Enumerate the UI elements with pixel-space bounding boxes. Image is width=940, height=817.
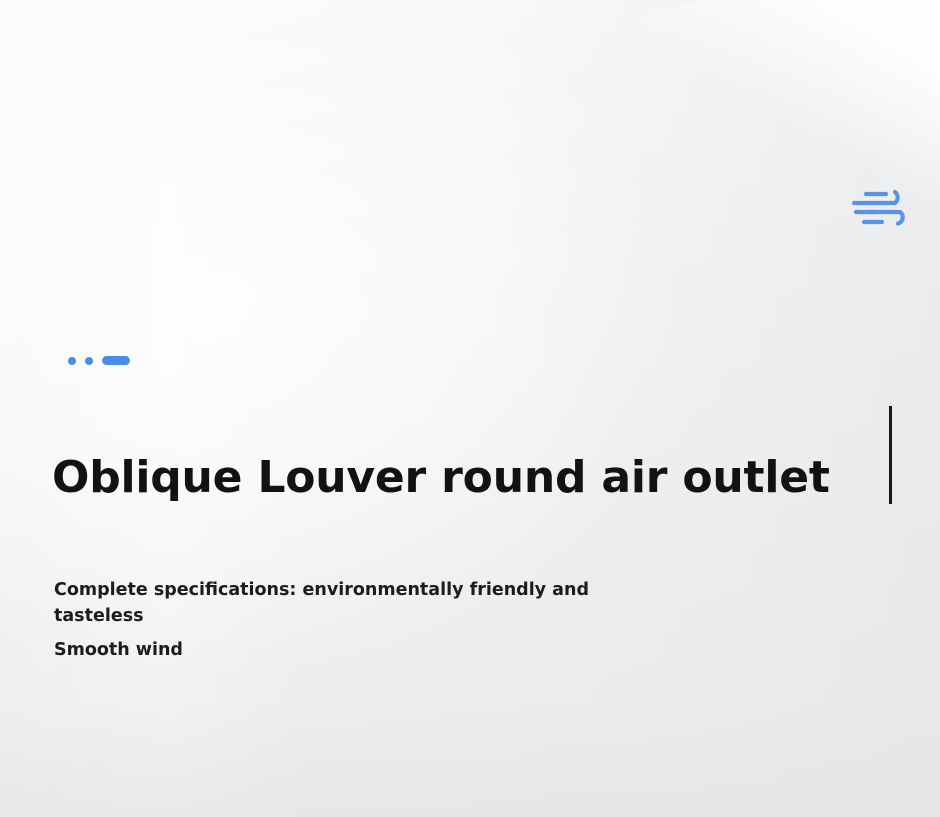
subtitle-block: Complete specifications: environmentally… bbox=[54, 578, 654, 664]
dot-icon bbox=[68, 357, 76, 365]
wind-icon bbox=[848, 186, 916, 230]
subtitle-line-smooth-wind: Smooth wind bbox=[54, 638, 654, 664]
decorative-dots bbox=[68, 356, 130, 365]
background-vignette bbox=[0, 0, 940, 817]
vertical-accent-rule bbox=[889, 406, 892, 504]
dot-icon bbox=[85, 357, 93, 365]
product-feature-banner: Oblique Louver round air outlet Complete… bbox=[0, 0, 940, 817]
page-title: Oblique Louver round air outlet bbox=[52, 453, 830, 504]
pill-icon bbox=[102, 356, 130, 365]
subtitle-line-specifications: Complete specifications: environmentally… bbox=[54, 578, 654, 629]
